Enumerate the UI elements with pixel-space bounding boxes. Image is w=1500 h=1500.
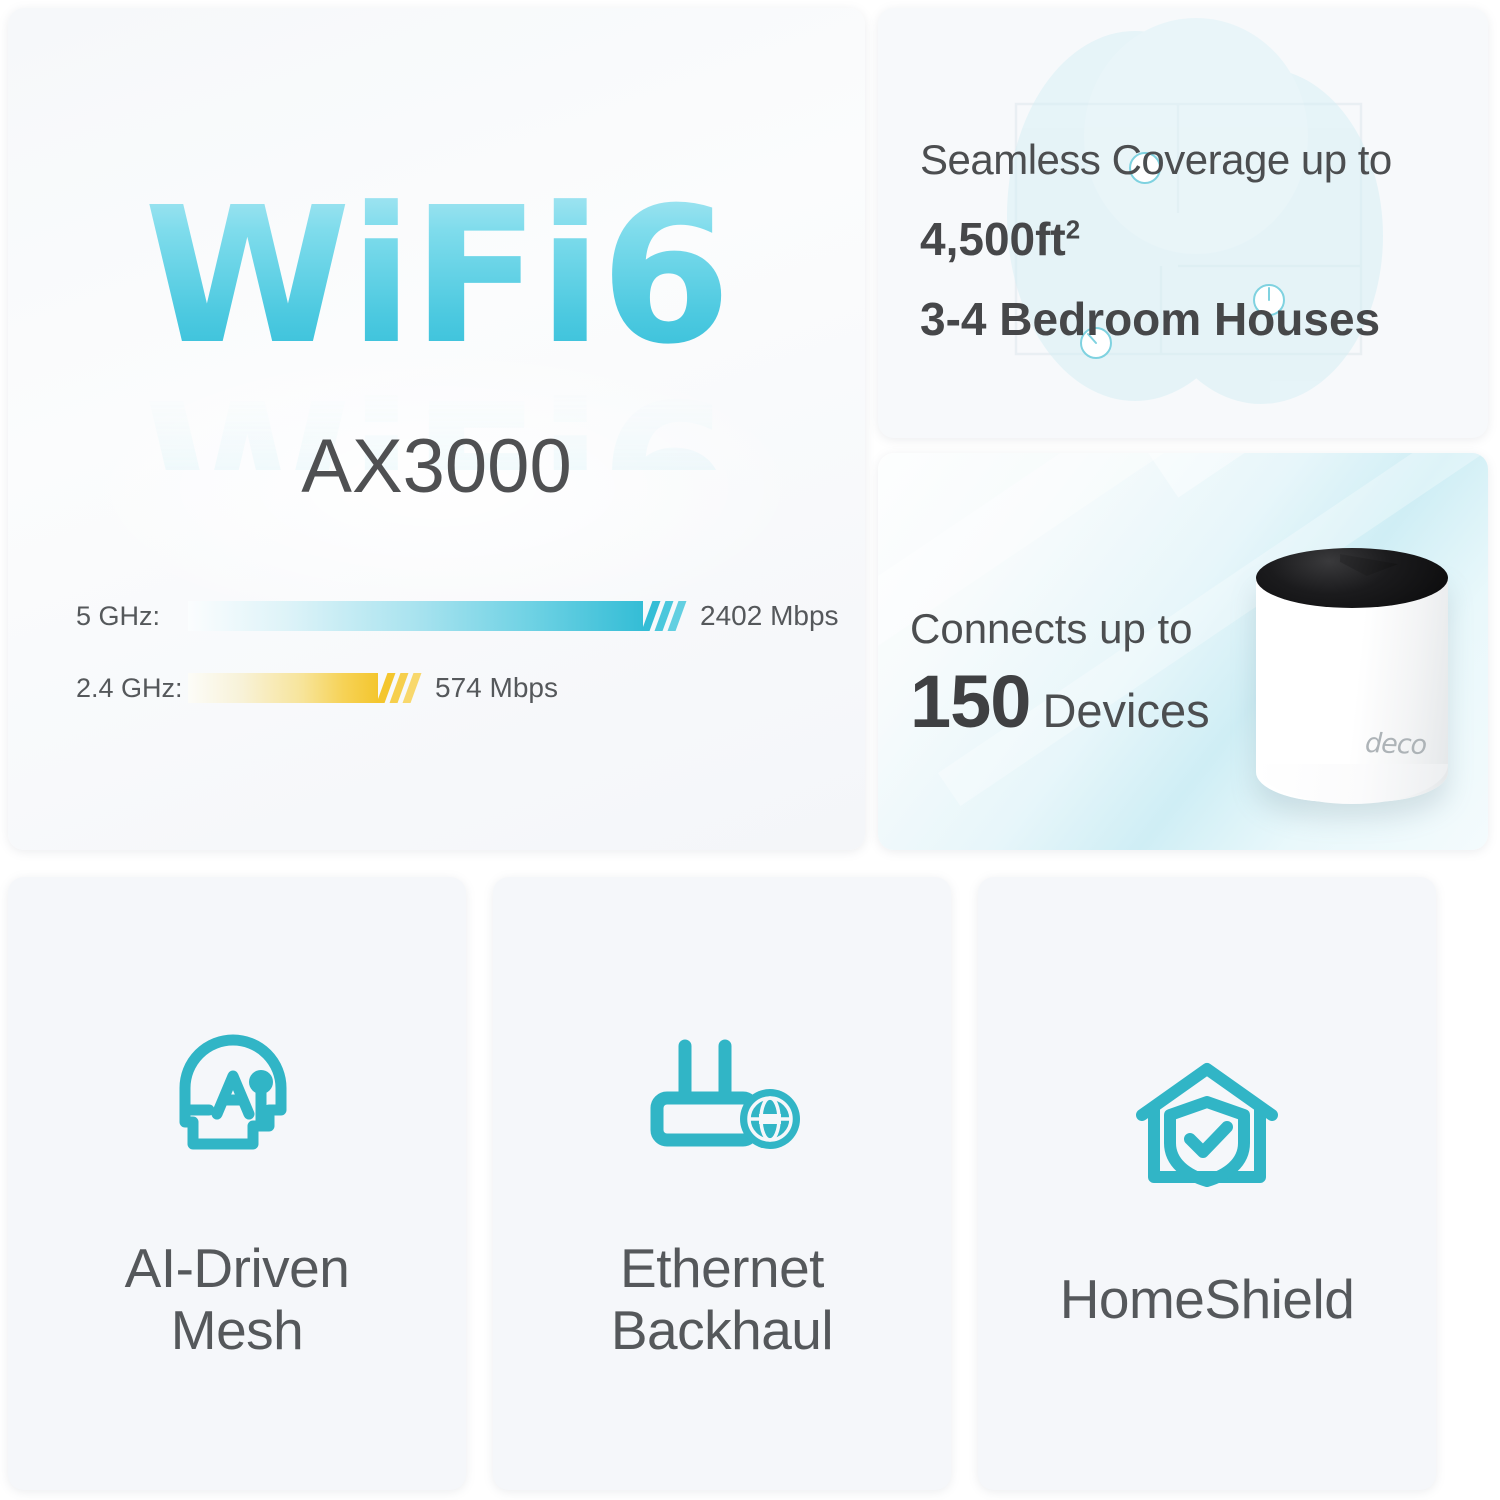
wifi6-logo-text: WiFi: [144, 183, 601, 371]
model-name: AX3000: [8, 423, 865, 510]
house-shield-check-icon: [1132, 1057, 1282, 1197]
decor-stripe: [1128, 453, 1488, 498]
infographic-page: WiFi6 WiFi6 AX3000 5 GHz: 2402 Mbps: [0, 0, 1500, 1500]
wifi6-logo-six: 6: [600, 183, 729, 371]
coverage-text-block: Seamless Coverage up to 4,500ft2 3-4 Bed…: [920, 136, 1468, 346]
speed-label-24ghz: 2.4 GHz:: [76, 673, 188, 704]
deco-logo: deco: [1364, 728, 1426, 761]
devices-count: 150: [910, 660, 1030, 743]
deco-router-image: deco: [1256, 548, 1448, 816]
router-top-surface: [1256, 548, 1448, 608]
speed-bar-stripes-24ghz: [382, 673, 421, 703]
feature-label-ethernet-backhaul: Ethernet Backhaul: [611, 1238, 833, 1361]
router-body-bottom: [1256, 764, 1448, 804]
feature-card-ai-driven-mesh: AI-Driven Mesh: [8, 877, 466, 1490]
ai-head-icon: [157, 1026, 317, 1166]
speed-row-24ghz: 2.4 GHz: 574 Mbps: [76, 665, 836, 711]
coverage-house-size: 3-4 Bedroom Houses: [920, 292, 1468, 346]
speed-bar-area-5ghz: [188, 601, 686, 631]
feature-card-homeshield: HomeShield: [978, 877, 1436, 1490]
wifi6-logo: WiFi6: [8, 183, 865, 371]
router-globe-icon: [637, 1026, 807, 1166]
speed-bar-fill-5ghz: [188, 601, 643, 631]
devices-count-line: 150Devices: [910, 659, 1210, 744]
feature-label-homeshield: HomeShield: [1060, 1269, 1355, 1331]
speed-label-5ghz: 5 GHz:: [76, 601, 188, 632]
ai-node-dot: [249, 1070, 273, 1094]
devices-unit: Devices: [1042, 684, 1209, 737]
feature-card-ethernet-backhaul: Ethernet Backhaul: [493, 877, 951, 1490]
feature-label-ai-driven-mesh: AI-Driven Mesh: [125, 1238, 350, 1361]
speed-row-5ghz: 5 GHz: 2402 Mbps: [76, 593, 836, 639]
devices-headline: Connects up to: [910, 605, 1210, 653]
devices-card: deco Connects up to 150Devices: [878, 453, 1488, 850]
speed-bar-area-24ghz: [188, 673, 421, 703]
coverage-card: Seamless Coverage up to 4,500ft2 3-4 Bed…: [878, 8, 1488, 438]
coverage-headline: Seamless Coverage up to: [920, 136, 1468, 184]
wifi6-hero-card: WiFi6 WiFi6 AX3000 5 GHz: 2402 Mbps: [8, 8, 865, 850]
coverage-area-value: 4,500ft: [920, 213, 1066, 265]
speed-bar-fill-24ghz: [188, 673, 378, 703]
speed-value-24ghz: 574 Mbps: [435, 672, 558, 704]
speed-value-5ghz: 2402 Mbps: [700, 600, 839, 632]
speed-bars: 5 GHz: 2402 Mbps 2.4 GHz:: [76, 593, 836, 737]
speed-bar-stripes-5ghz: [647, 601, 686, 631]
coverage-area: 4,500ft2: [920, 212, 1468, 266]
coverage-area-unit-sup: 2: [1066, 215, 1080, 245]
devices-text-block: Connects up to 150Devices: [910, 605, 1210, 744]
router-top-notch: [1340, 554, 1398, 576]
